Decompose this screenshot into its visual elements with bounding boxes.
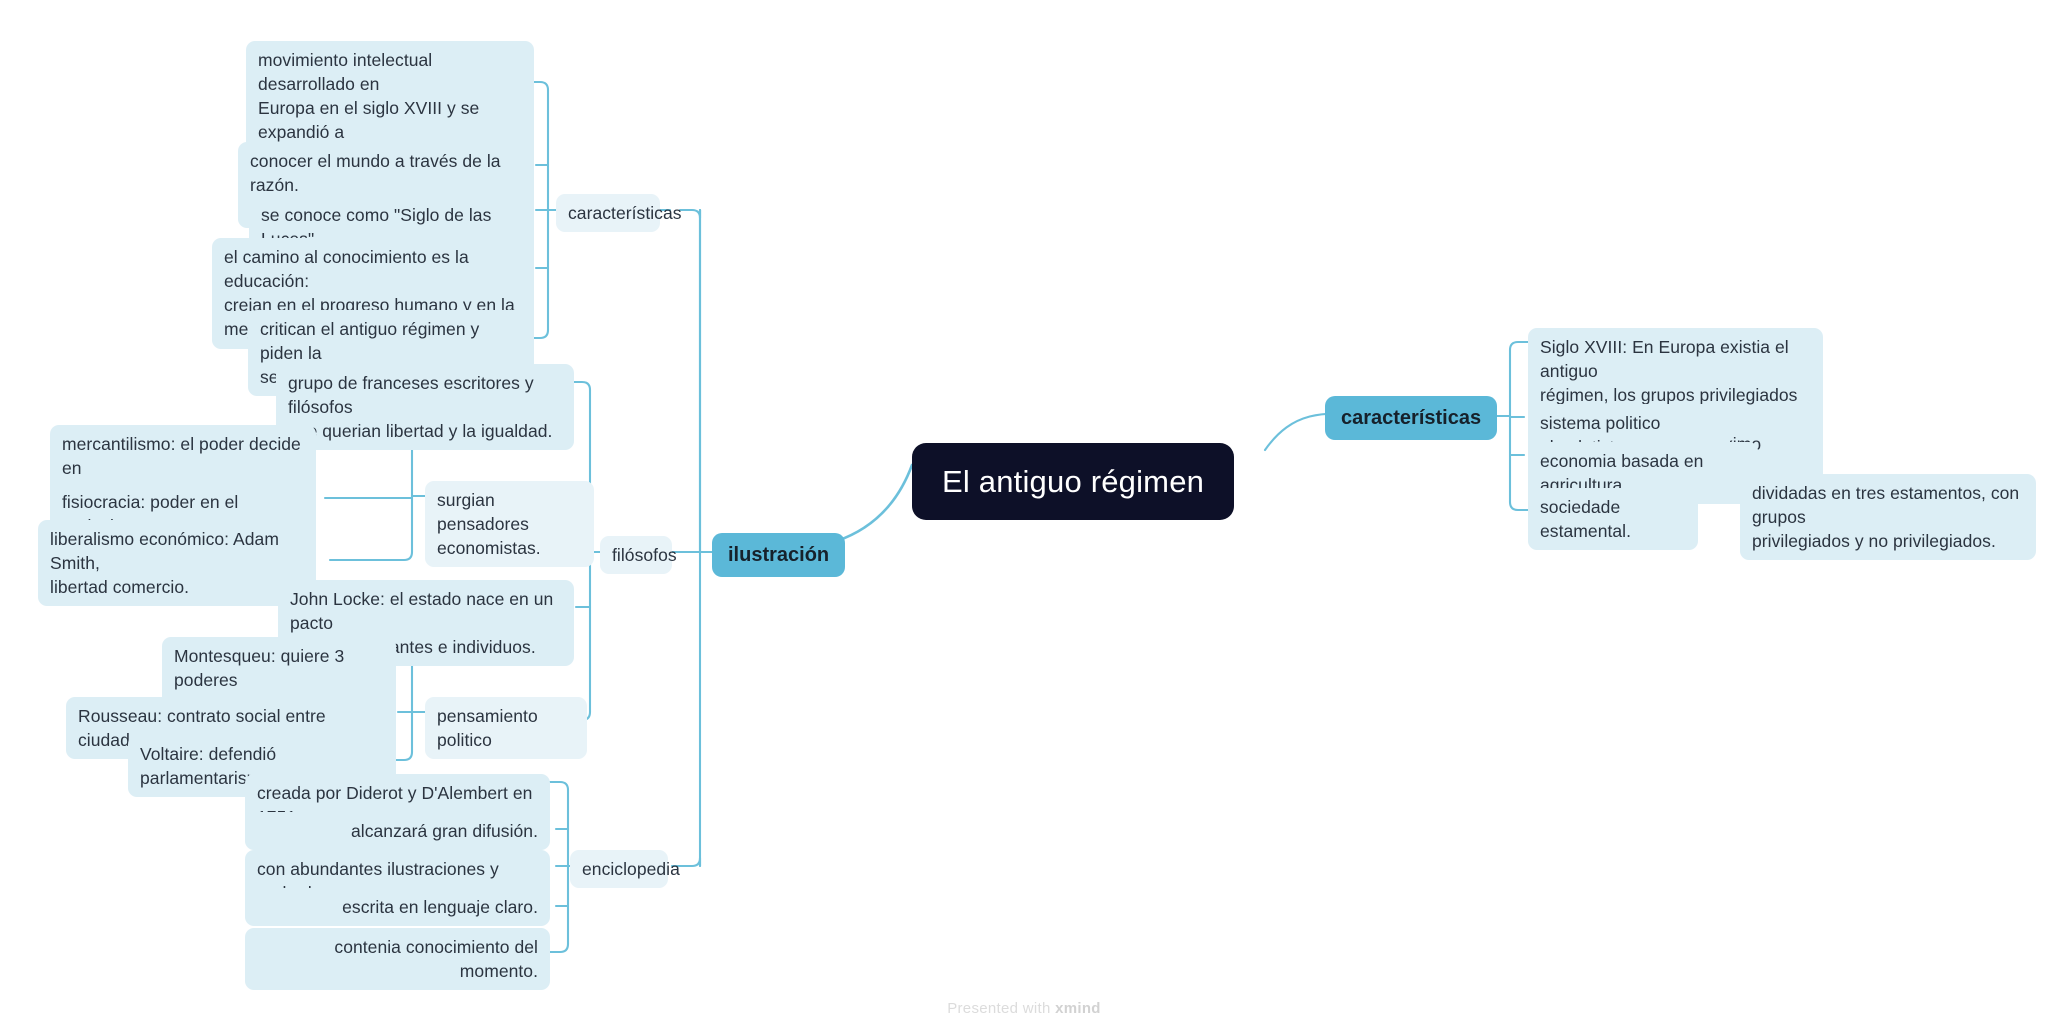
node-tres-estamentos[interactable]: dividadas en tres estamentos, con grupos… <box>1740 474 2036 560</box>
node-pensamiento-politico[interactable]: pensamiento politico <box>425 697 587 759</box>
node-enciclopedia[interactable]: enciclopedia <box>570 850 668 888</box>
footer-brand: xmind <box>1055 1000 1101 1017</box>
node-sociedade-estamental[interactable]: sociedade estamental. <box>1528 488 1698 550</box>
node-lenguaje-claro[interactable]: escrita en lenguaje claro. <box>245 888 550 926</box>
node-filosofos[interactable]: filósofos <box>600 536 672 574</box>
node-caracteristicas-left[interactable]: características <box>556 194 660 232</box>
node-pensadores-economistas[interactable]: surgian pensadores economistas. <box>425 481 594 567</box>
root-node[interactable]: El antiguo régimen <box>912 443 1234 520</box>
branch-caracteristicas-right[interactable]: características <box>1325 396 1497 440</box>
node-conocimiento-del-momento[interactable]: contenia conocimiento del momento. <box>245 928 550 990</box>
node-liberalismo-economico[interactable]: liberalismo económico: Adam Smith, liber… <box>38 520 316 606</box>
node-alcanzara-difusion[interactable]: alcanzará gran difusión. <box>245 812 550 850</box>
mindmap-canvas: El antiguo régimen ilustración caracterí… <box>0 0 2048 1029</box>
footer-attribution: Presented with xmind <box>0 1000 2048 1017</box>
footer-prefix: Presented with <box>947 1000 1055 1017</box>
node-grupo-franceses[interactable]: grupo de franceses escritores y filósofo… <box>276 364 574 450</box>
branch-ilustracion[interactable]: ilustración <box>712 533 845 577</box>
